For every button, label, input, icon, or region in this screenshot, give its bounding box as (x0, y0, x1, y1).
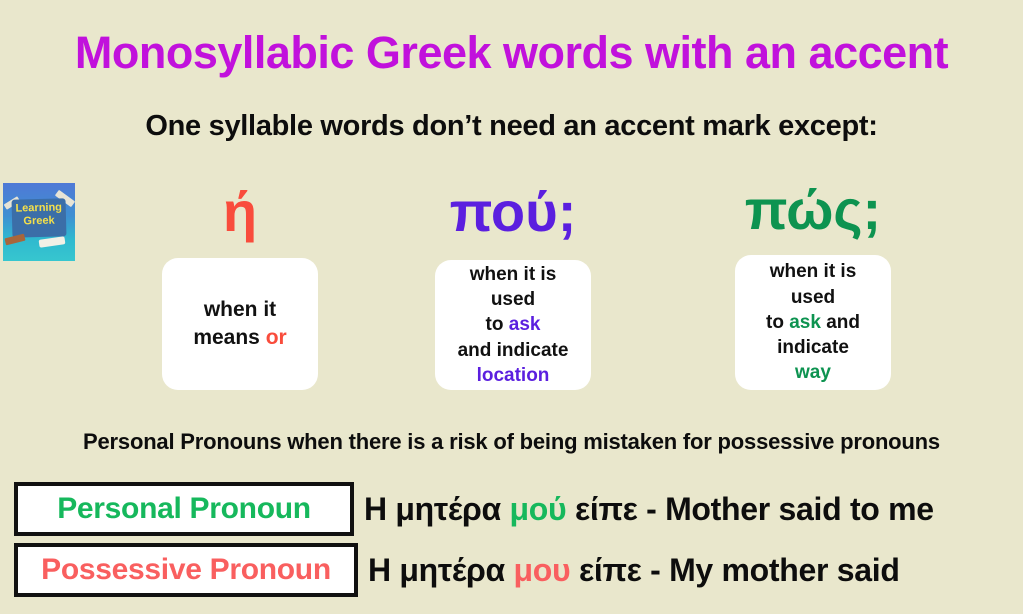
sentence-segment: μού (510, 491, 567, 527)
card-line: to ask and (745, 310, 881, 335)
card-line: location (445, 363, 581, 388)
card-text-segment: when it is used (470, 264, 557, 310)
card-text-segment: indicate (777, 337, 849, 358)
possessive-pronoun-sentence: Η μητέρα μου είπε - My mother said (368, 552, 900, 589)
possessive-pronoun-label: Possessive Pronoun (14, 543, 358, 597)
card-text-segment: and (821, 312, 860, 333)
sentence-segment: είπε - My mother said (570, 552, 899, 588)
card-line: way (745, 360, 881, 385)
card-text-segment: and indicate (458, 340, 569, 361)
explanation-card-3: when it is usedto ask andindicateway (735, 255, 891, 390)
chalk-icon (39, 236, 66, 248)
card-text-segment: way (795, 362, 831, 383)
explanation-card-2: when it is usedto askand indicatelocatio… (435, 260, 591, 390)
card-line: when it is used (445, 262, 581, 313)
card-text-segment: when it (204, 298, 276, 321)
subtitle-text: One syllable words don’t need an accent … (0, 110, 1023, 143)
card-text-segment: ask (789, 312, 821, 333)
logo-line-2: Greek (23, 214, 55, 227)
personal-pronoun-sentence: Η μητέρα μού είπε - Mother said to me (364, 491, 934, 528)
pronoun-row-possessive: Possessive Pronoun Η μητέρα μου είπε - M… (0, 539, 900, 601)
card-line: means or (193, 324, 286, 352)
card-text-segment: when it is used (770, 261, 857, 307)
card-text-segment: location (477, 365, 550, 386)
explanation-card-1: when itmeans or (162, 258, 318, 390)
page-title: Monosyllabic Greek words with an accent (0, 28, 1023, 78)
pronoun-row-personal: Personal Pronoun Η μητέρα μού είπε - Mot… (0, 478, 934, 540)
personal-pronoun-label: Personal Pronoun (14, 482, 354, 536)
sentence-segment: είπε - Mother said to me (566, 491, 933, 527)
pencil-icon (4, 234, 25, 246)
card-text-segment: ask (509, 314, 541, 335)
logo-line-1: Learning (15, 201, 62, 214)
chalkboard-icon: Learning Greek (12, 198, 67, 237)
card-text-segment: or (266, 326, 287, 349)
sentence-segment: Η μητέρα (364, 491, 510, 527)
slide-canvas: Monosyllabic Greek words with an accent … (0, 0, 1023, 614)
sentence-segment: Η μητέρα (368, 552, 514, 588)
card-line: to ask (445, 312, 581, 337)
card-text-segment: means (193, 326, 265, 349)
card-text-segment: to (486, 314, 509, 335)
learning-greek-logo: Learning Greek (3, 183, 75, 261)
card-line: when it is used (745, 259, 881, 310)
card-line: indicate (745, 335, 881, 360)
personal-pronoun-note: Personal Pronouns when there is a risk o… (0, 429, 1023, 455)
card-line: and indicate (445, 338, 581, 363)
card-text-segment: to (766, 312, 789, 333)
greek-headword-3: πώς; (735, 182, 891, 238)
sentence-segment: μου (514, 552, 571, 588)
logo-text: Learning Greek (12, 201, 67, 228)
card-line: when it (193, 296, 286, 324)
greek-headword-2: πού; (435, 184, 591, 240)
greek-headword-1: ή (162, 184, 318, 240)
